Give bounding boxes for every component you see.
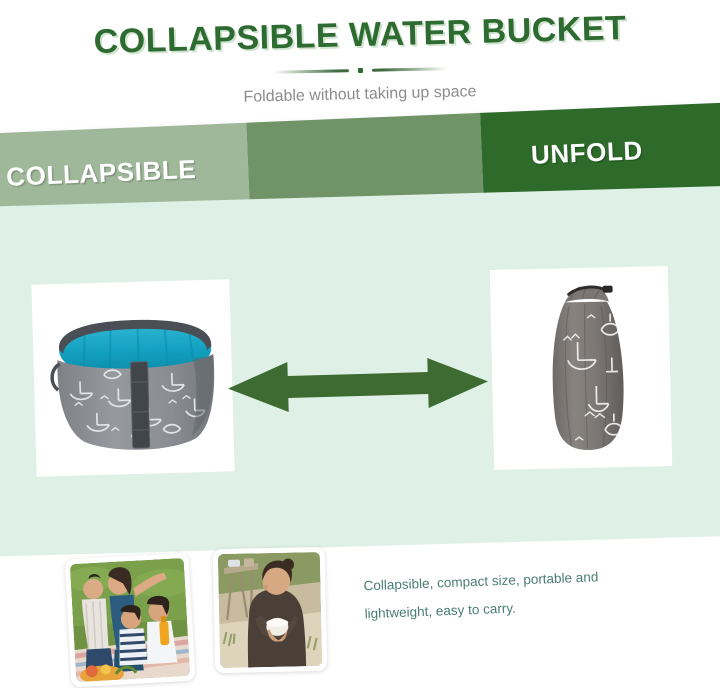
family-picnic-photo — [65, 553, 196, 688]
double-headed-arrow-icon — [221, 338, 495, 432]
header: COLLAPSIBLE WATER BUCKET Foldable withou… — [0, 0, 720, 120]
banner-label-collapsible: COLLAPSIBLE — [6, 153, 197, 192]
banner-segment-unfold: UNFOLD — [480, 102, 720, 200]
collapsible-bucket-image — [42, 298, 232, 463]
divider-dash-left — [272, 69, 348, 74]
divider-dash-right — [371, 67, 447, 72]
product-caption: Collapsible, compact size, portable and … — [363, 560, 695, 629]
infographic-page: COLLAPSIBLE WATER BUCKET Foldable withou… — [0, 0, 720, 688]
divider-dot-icon — [357, 67, 362, 72]
woman-camping-photo — [213, 547, 328, 673]
storage-pouch-image — [538, 279, 637, 459]
banner-label-unfold: UNFOLD — [530, 135, 643, 171]
